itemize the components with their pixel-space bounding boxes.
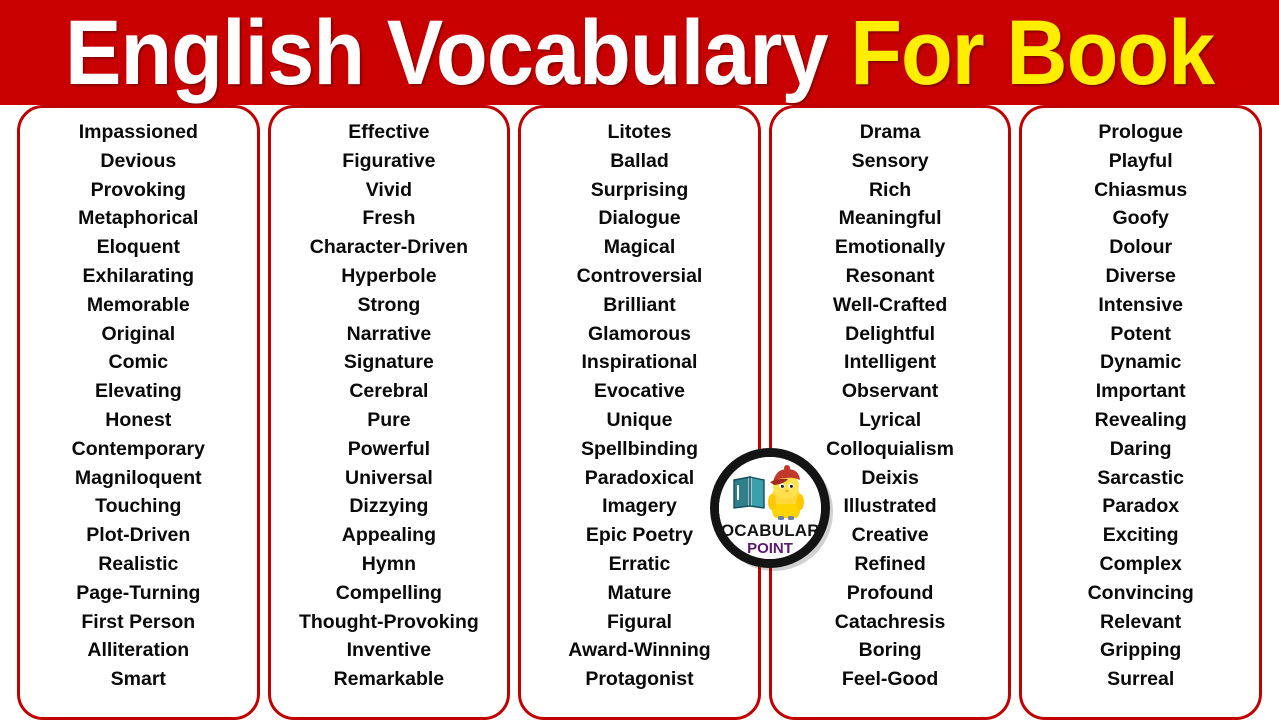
word-item: Vivid xyxy=(271,176,508,205)
word-item: Character-Driven xyxy=(271,233,508,262)
word-item: Hyperbole xyxy=(271,262,508,291)
word-item: Chiasmus xyxy=(1022,176,1259,205)
word-item: Profound xyxy=(772,579,1009,608)
word-item: Touching xyxy=(20,492,257,521)
word-item: Pure xyxy=(271,406,508,435)
word-item: Effective xyxy=(271,118,508,147)
word-item: Revealing xyxy=(1022,406,1259,435)
word-item: Emotionally xyxy=(772,233,1009,262)
word-item: Realistic xyxy=(20,550,257,579)
word-item: Original xyxy=(20,320,257,349)
word-item: Provoking xyxy=(20,176,257,205)
word-item: Litotes xyxy=(521,118,758,147)
word-item: Figural xyxy=(521,608,758,637)
word-item: Surreal xyxy=(1022,665,1259,694)
word-item: Meaningful xyxy=(772,204,1009,233)
word-item: Resonant xyxy=(772,262,1009,291)
word-item: Glamorous xyxy=(521,320,758,349)
word-item: Impassioned xyxy=(20,118,257,147)
word-item: Surprising xyxy=(521,176,758,205)
word-column-2: Effective Figurative Vivid Fresh Charact… xyxy=(268,105,511,720)
word-item: Intensive xyxy=(1022,291,1259,320)
word-item: Well-Crafted xyxy=(772,291,1009,320)
word-item: Compelling xyxy=(271,579,508,608)
word-item: Mature xyxy=(521,579,758,608)
page-title-space xyxy=(827,2,850,104)
word-column-3: Litotes Ballad Surprising Dialogue Magic… xyxy=(518,105,761,720)
logo-svg: VOCABULARY POINT .COM xyxy=(706,444,838,576)
word-item: Feel-Good xyxy=(772,665,1009,694)
word-columns: Impassioned Devious Provoking Metaphoric… xyxy=(0,105,1279,720)
word-item: Thought-Provoking xyxy=(271,608,508,637)
word-item: Delightful xyxy=(772,320,1009,349)
word-item: Dolour xyxy=(1022,233,1259,262)
word-item: Daring xyxy=(1022,435,1259,464)
word-item: Diverse xyxy=(1022,262,1259,291)
word-item: Devious xyxy=(20,147,257,176)
word-item: Plot-Driven xyxy=(20,521,257,550)
word-item: Remarkable xyxy=(271,665,508,694)
word-item: Fresh xyxy=(271,204,508,233)
word-item: Sarcastic xyxy=(1022,464,1259,493)
word-item: Evocative xyxy=(521,377,758,406)
word-item: Sensory xyxy=(772,147,1009,176)
word-column-1: Impassioned Devious Provoking Metaphoric… xyxy=(17,105,260,720)
word-item: Paradox xyxy=(1022,492,1259,521)
word-item: Strong xyxy=(271,291,508,320)
word-item: Honest xyxy=(20,406,257,435)
word-item: Lyrical xyxy=(772,406,1009,435)
word-item: Important xyxy=(1022,377,1259,406)
word-column-4: Drama Sensory Rich Meaningful Emotionall… xyxy=(769,105,1012,720)
word-item: Dizzying xyxy=(271,492,508,521)
word-item: Magical xyxy=(521,233,758,262)
word-item: Dynamic xyxy=(1022,348,1259,377)
word-item: Intelligent xyxy=(772,348,1009,377)
word-item: Goofy xyxy=(1022,204,1259,233)
word-item: Alliteration xyxy=(20,636,257,665)
word-item: Exciting xyxy=(1022,521,1259,550)
word-item: Figurative xyxy=(271,147,508,176)
word-item: First Person xyxy=(20,608,257,637)
word-item: Convincing xyxy=(1022,579,1259,608)
word-item: Prologue xyxy=(1022,118,1259,147)
logo-text-point: POINT xyxy=(747,540,793,557)
word-item: Exhilarating xyxy=(20,262,257,291)
word-item: Smart xyxy=(20,665,257,694)
word-item: Award-Winning xyxy=(521,636,758,665)
word-item: Elevating xyxy=(20,377,257,406)
word-item: Inventive xyxy=(271,636,508,665)
word-item: Brilliant xyxy=(521,291,758,320)
word-item: Protagonist xyxy=(521,665,758,694)
word-item: Cerebral xyxy=(271,377,508,406)
word-item: Complex xyxy=(1022,550,1259,579)
word-item: Signature xyxy=(271,348,508,377)
word-item: Observant xyxy=(772,377,1009,406)
vocabulary-point-logo: VOCABULARY POINT .COM xyxy=(706,444,838,576)
page-title-primary: English Vocabulary xyxy=(65,2,828,104)
word-item: Gripping xyxy=(1022,636,1259,665)
word-item: Comic xyxy=(20,348,257,377)
word-item: Potent xyxy=(1022,320,1259,349)
word-item: Dialogue xyxy=(521,204,758,233)
vocabulary-infographic: English Vocabulary For Book Impassioned … xyxy=(0,0,1279,720)
word-item: Powerful xyxy=(271,435,508,464)
word-item: Controversial xyxy=(521,262,758,291)
book-icon xyxy=(734,477,764,508)
word-item: Appealing xyxy=(271,521,508,550)
word-item: Relevant xyxy=(1022,608,1259,637)
word-item: Playful xyxy=(1022,147,1259,176)
header-banner: English Vocabulary For Book xyxy=(0,0,1279,105)
word-item: Boring xyxy=(772,636,1009,665)
word-item: Magniloquent xyxy=(20,464,257,493)
logo-text-vocabulary: VOCABULARY xyxy=(709,521,831,540)
word-item: Unique xyxy=(521,406,758,435)
word-item: Narrative xyxy=(271,320,508,349)
word-column-5: Prologue Playful Chiasmus Goofy Dolour D… xyxy=(1019,105,1262,720)
word-item: Rich xyxy=(772,176,1009,205)
word-item: Inspirational xyxy=(521,348,758,377)
page-title-accent: For Book xyxy=(850,2,1214,104)
word-item: Eloquent xyxy=(20,233,257,262)
word-item: Universal xyxy=(271,464,508,493)
word-item: Ballad xyxy=(521,147,758,176)
word-item: Metaphorical xyxy=(20,204,257,233)
word-item: Page-Turning xyxy=(20,579,257,608)
word-item: Catachresis xyxy=(772,608,1009,637)
page-title: English Vocabulary For Book xyxy=(65,3,1214,103)
word-item: Hymn xyxy=(271,550,508,579)
word-item: Memorable xyxy=(20,291,257,320)
word-item: Drama xyxy=(772,118,1009,147)
word-item: Contemporary xyxy=(20,435,257,464)
